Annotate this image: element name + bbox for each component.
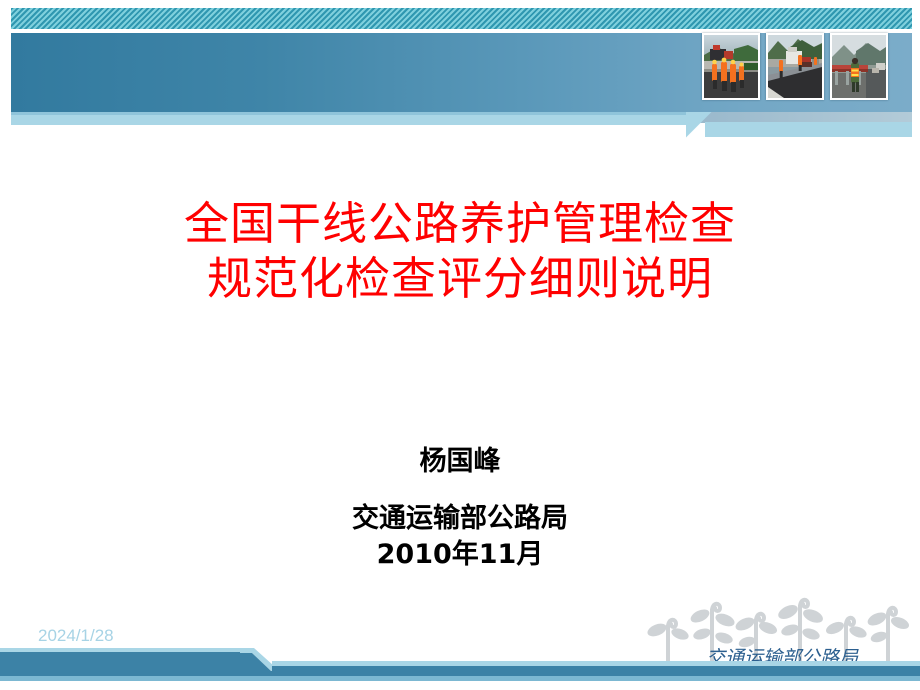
- title-line-1: 全国干线公路养护管理检查: [0, 196, 920, 251]
- header-thumbnail-strip: [702, 33, 888, 100]
- slide-subtitle: 杨国峰 交通运输部公路局 2010年11月: [0, 445, 920, 573]
- road-workers-photo: [702, 33, 760, 100]
- slide-title: 全国干线公路养护管理检查 规范化检查评分细则说明: [0, 196, 920, 306]
- author-name: 杨国峰: [0, 445, 920, 479]
- guardrail-worker-photo: [830, 33, 888, 100]
- header-accent-left-shade: [11, 112, 697, 115]
- slide-header: [0, 0, 920, 132]
- organization-name: 交通运输部公路局: [0, 501, 920, 537]
- asphalt-paving-photo: [766, 33, 824, 100]
- presentation-date: 2010年11月: [0, 537, 920, 573]
- footer-date: 2024/1/28: [38, 626, 114, 646]
- title-line-2: 规范化检查评分细则说明: [0, 251, 920, 306]
- footer-bottom-margin: [0, 681, 920, 690]
- diagonal-stripe-band: [11, 8, 912, 29]
- presentation-slide: 全国干线公路养护管理检查 规范化检查评分细则说明 杨国峰 交通运输部公路局 20…: [0, 0, 920, 690]
- header-accent-right: [705, 122, 912, 137]
- footer-bar-left: [0, 652, 248, 676]
